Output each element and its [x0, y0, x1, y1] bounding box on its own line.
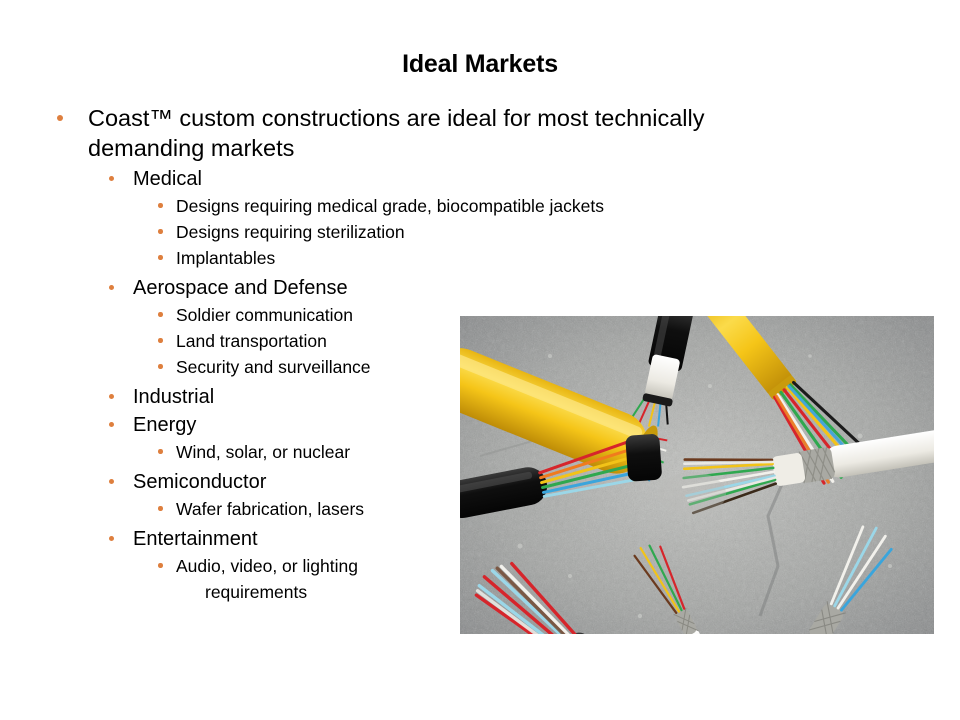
bullet-dot-icon: [109, 536, 114, 541]
bullet-dot-icon: [158, 506, 163, 511]
list-item-label: Medical: [133, 165, 960, 193]
bullet-dot-icon: [158, 312, 163, 317]
list-item-medical-sub-2: Designs requiring sterilization: [0, 219, 960, 245]
list-item-intro: Coast™ custom constructions are ideal fo…: [0, 103, 960, 163]
bullet-dot-icon: [109, 422, 114, 427]
bullet-dot-icon: [158, 338, 163, 343]
bullet-dot-icon: [109, 176, 114, 181]
list-item-medical-sub-1: Designs requiring medical grade, biocomp…: [0, 193, 960, 219]
list-item-aerospace: Aerospace and Defense: [0, 274, 960, 302]
bullet-dot-icon: [158, 449, 163, 454]
list-item-label: Designs requiring medical grade, biocomp…: [176, 193, 960, 219]
bullet-dot-icon: [158, 203, 163, 208]
list-item-medical-sub-3: Implantables: [0, 245, 960, 271]
page-title: Ideal Markets: [0, 50, 960, 79]
list-item-label: Aerospace and Defense: [133, 274, 960, 302]
bullet-dot-icon: [158, 563, 163, 568]
list-item-label: Implantables: [176, 245, 960, 271]
bullet-dot-icon: [57, 115, 63, 121]
bullet-dot-icon: [109, 394, 114, 399]
bullet-dot-icon: [109, 285, 114, 290]
list-item-label: Designs requiring sterilization: [176, 219, 960, 245]
bullet-dot-icon: [158, 364, 163, 369]
list-item-medical: Medical: [0, 165, 960, 193]
cable-starburst-photo: [460, 316, 934, 634]
list-item-label: Coast™ custom constructions are ideal fo…: [88, 103, 800, 163]
bullet-dot-icon: [158, 255, 163, 260]
slide-canvas: Ideal Markets Coast™ custom construction…: [0, 0, 960, 720]
bullet-dot-icon: [158, 229, 163, 234]
bullet-dot-icon: [109, 479, 114, 484]
